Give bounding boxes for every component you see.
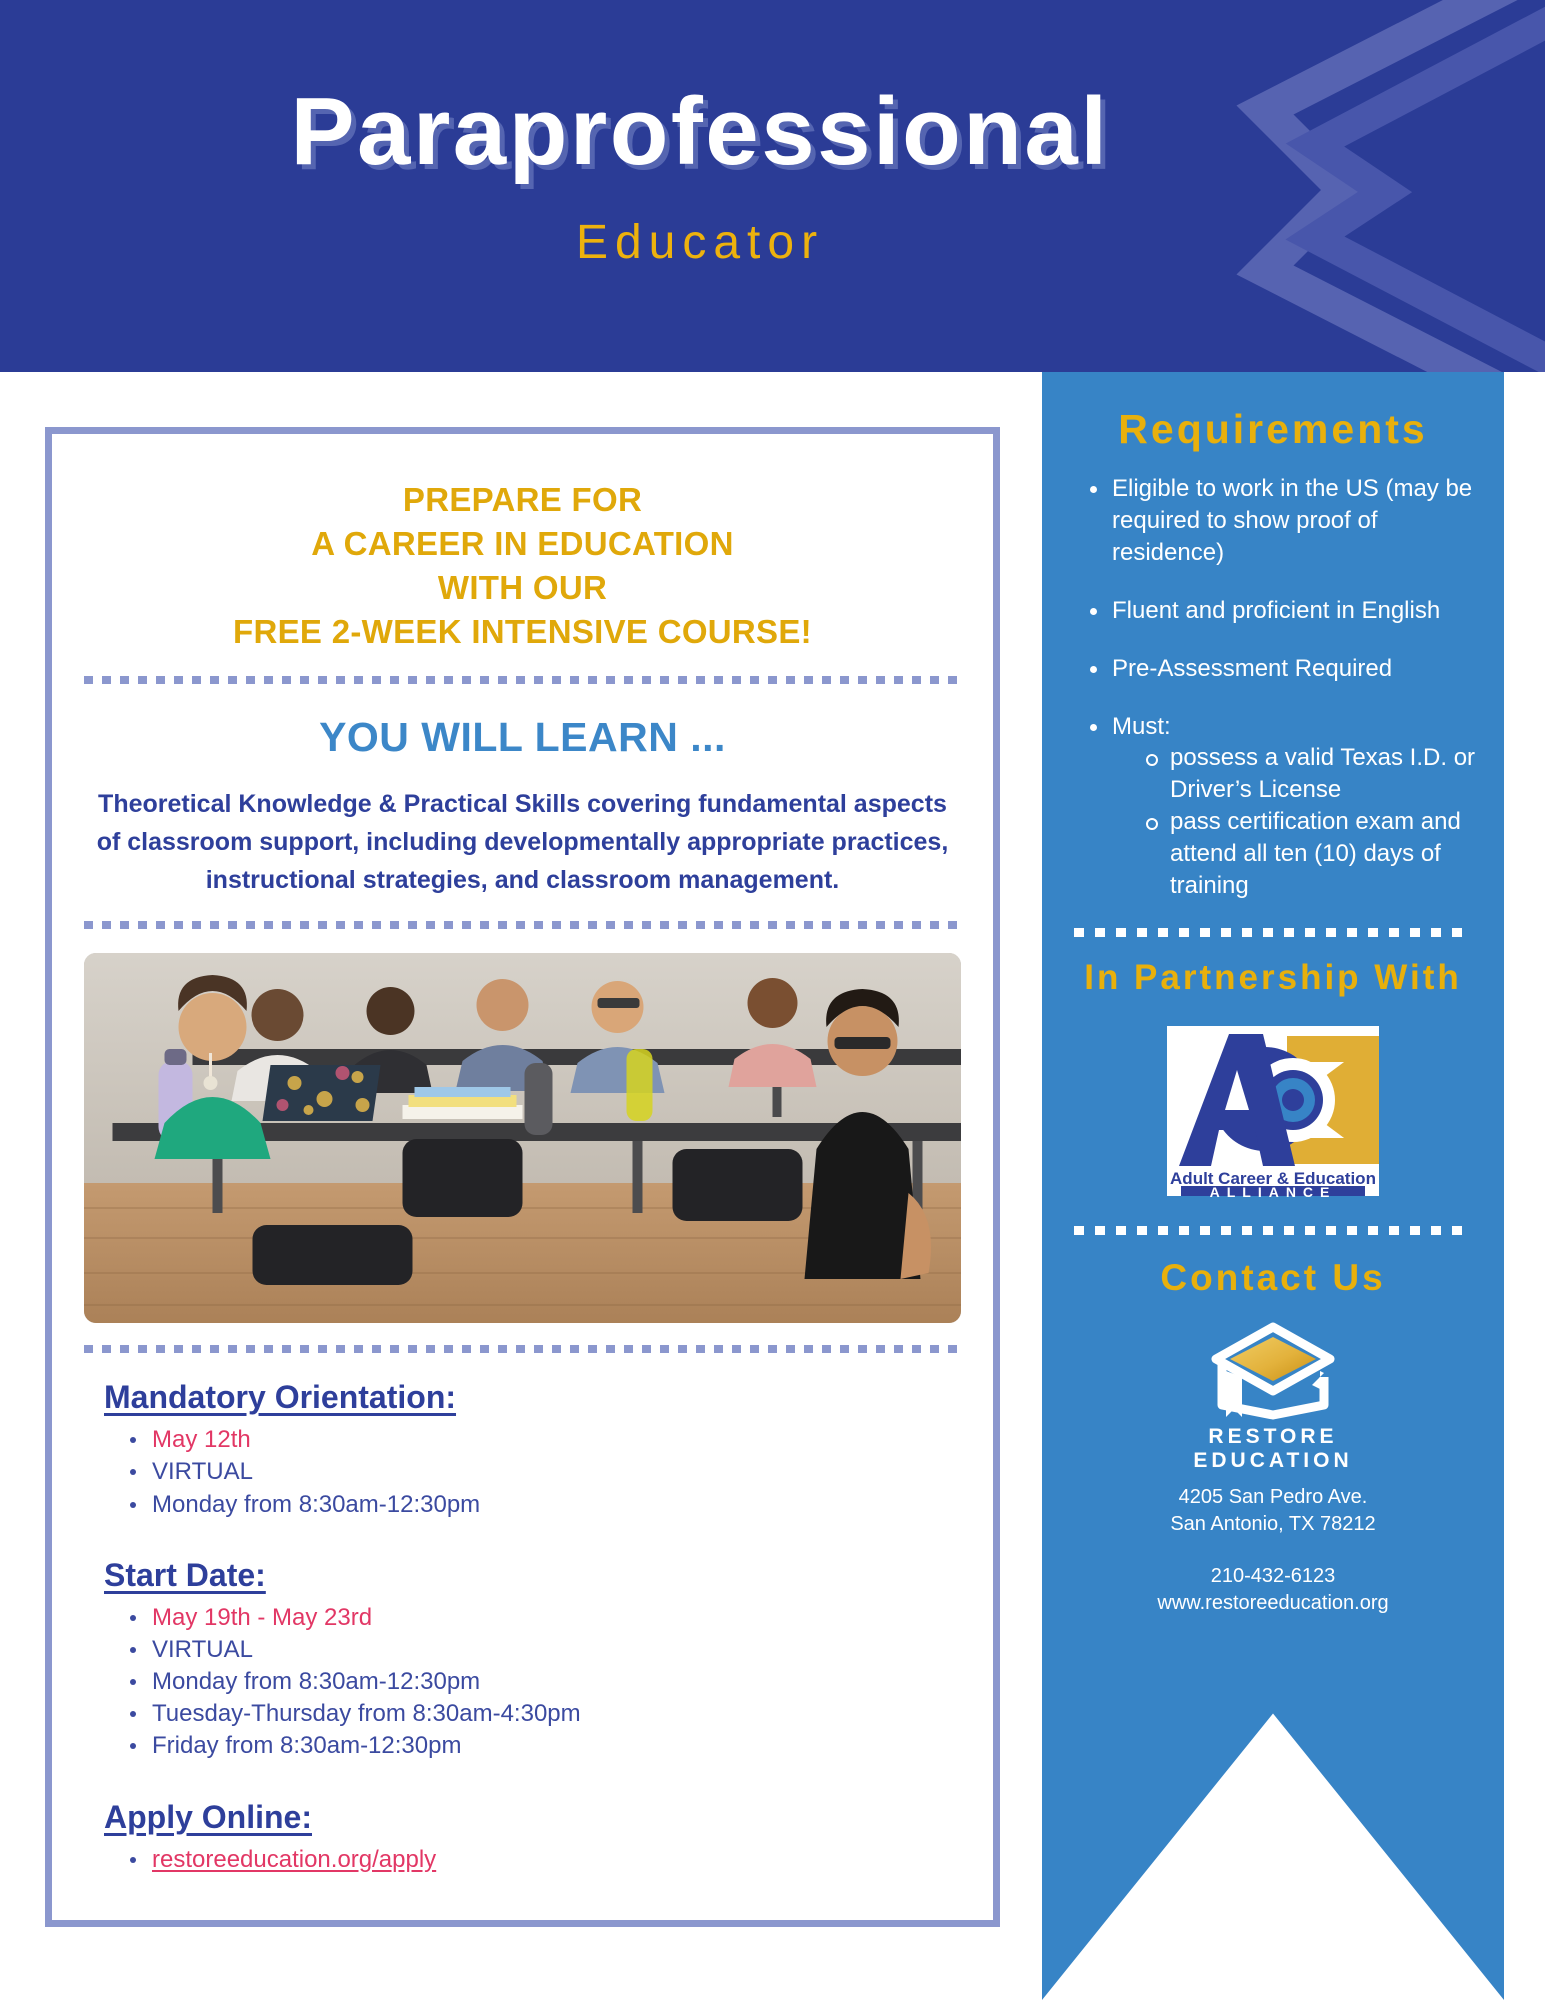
- org-name-line-1: RESTORE: [1193, 1425, 1352, 1449]
- promo-block: PREPARE FOR A CAREER IN EDUCATION WITH O…: [78, 478, 967, 654]
- start-date-heading: Start Date:: [104, 1557, 967, 1594]
- apply-online-heading: Apply Online:: [104, 1799, 967, 1836]
- contact-title: Contact Us: [1066, 1257, 1480, 1299]
- address-block: 4205 San Pedro Ave. San Antonio, TX 7821…: [1066, 1484, 1480, 1538]
- main-content-box: PREPARE FOR A CAREER IN EDUCATION WITH O…: [45, 427, 1000, 1927]
- list-item: Monday from 8:30am-12:30pm: [126, 1489, 967, 1521]
- list-item: restoreeducation.org/apply: [126, 1844, 967, 1876]
- header-banner: Paraprofessional Educator: [0, 0, 1545, 372]
- phone-number[interactable]: 210-432-6123: [1066, 1563, 1480, 1590]
- must-sublist: possess a valid Texas I.D. or Driver’s L…: [1140, 742, 1480, 902]
- divider-dashed-sidebar-2: [1074, 1226, 1472, 1235]
- address-line-2: San Antonio, TX 78212: [1066, 1511, 1480, 1538]
- list-item: pass certification exam and attend all t…: [1140, 806, 1480, 902]
- promo-line-1: PREPARE FOR: [78, 478, 967, 522]
- apply-online-list: restoreeducation.org/apply: [126, 1844, 967, 1876]
- list-item: Pre-Assessment Required: [1082, 653, 1480, 685]
- requirements-title: Requirements: [1066, 406, 1480, 453]
- org-logo-wrap: RESTORE EDUCATION: [1066, 1319, 1480, 1472]
- must-label: Must:: [1112, 713, 1171, 740]
- list-item: VIRTUAL: [126, 1634, 967, 1666]
- ace-alliance-label: ALLIANCE: [1066, 1184, 1480, 1200]
- ace-logo: Adult Career & Education: [1167, 1026, 1379, 1196]
- divider-dashed-sidebar-1: [1074, 928, 1472, 937]
- address-line-1: 4205 San Pedro Ave.: [1066, 1484, 1480, 1511]
- requirements-list: Eligible to work in the US (may be requi…: [1082, 473, 1480, 902]
- list-item: Friday from 8:30am-12:30pm: [126, 1730, 967, 1762]
- website-url[interactable]: www.restoreeducation.org: [1066, 1590, 1480, 1617]
- learn-heading: YOU WILL LEARN ...: [78, 714, 967, 761]
- divider-dashed-bottom: [84, 1345, 961, 1353]
- list-item: May 19th - May 23rd: [126, 1602, 967, 1634]
- org-name-line-2: EDUCATION: [1193, 1449, 1352, 1473]
- mandatory-orientation-list: May 12th VIRTUAL Monday from 8:30am-12:3…: [126, 1424, 967, 1520]
- start-date-list: May 19th - May 23rd VIRTUAL Monday from …: [126, 1602, 967, 1763]
- promo-line-3: WITH OUR: [78, 566, 967, 610]
- promo-line-2: A CAREER IN EDUCATION: [78, 522, 967, 566]
- sidebar-panel: Requirements Eligible to work in the US …: [1042, 372, 1504, 2000]
- page-subtitle: Educator: [0, 215, 1400, 270]
- learn-body-text: Theoretical Knowledge & Practical Skills…: [78, 785, 967, 900]
- list-item: VIRTUAL: [126, 1456, 967, 1488]
- partner-logo-wrap: Adult Career & Education: [1066, 1026, 1480, 1196]
- classroom-photo: [84, 953, 961, 1323]
- list-item: Monday from 8:30am-12:30pm: [126, 1666, 967, 1698]
- page-title: Paraprofessional: [0, 84, 1400, 180]
- flyer-page: Paraprofessional Educator PREPARE FOR A …: [0, 0, 1545, 2000]
- classroom-photo-image: [84, 953, 961, 1323]
- schedule-block: Mandatory Orientation: May 12th VIRTUAL …: [104, 1379, 967, 1875]
- list-item: Tuesday-Thursday from 8:30am-4:30pm: [126, 1698, 967, 1730]
- book-icon: [1208, 1319, 1338, 1423]
- list-item: Eligible to work in the US (may be requi…: [1082, 473, 1480, 569]
- list-item: Must: possess a valid Texas I.D. or Driv…: [1082, 711, 1480, 902]
- partnership-title: In Partnership With: [1066, 957, 1480, 998]
- list-item: possess a valid Texas I.D. or Driver’s L…: [1140, 742, 1480, 806]
- apply-link[interactable]: restoreeducation.org/apply: [152, 1846, 436, 1873]
- org-name: RESTORE EDUCATION: [1193, 1425, 1352, 1472]
- chevron-left-outline-decoration: [1015, 0, 1545, 372]
- divider-dashed-mid: [84, 921, 961, 929]
- list-item: May 12th: [126, 1424, 967, 1456]
- contact-details: 210-432-6123 www.restoreeducation.org: [1066, 1563, 1480, 1617]
- divider-dashed-top: [84, 676, 961, 684]
- promo-line-4: FREE 2-WEEK INTENSIVE COURSE!: [78, 610, 967, 654]
- list-item: Fluent and proficient in English: [1082, 595, 1480, 627]
- mandatory-orientation-heading: Mandatory Orientation:: [104, 1379, 967, 1416]
